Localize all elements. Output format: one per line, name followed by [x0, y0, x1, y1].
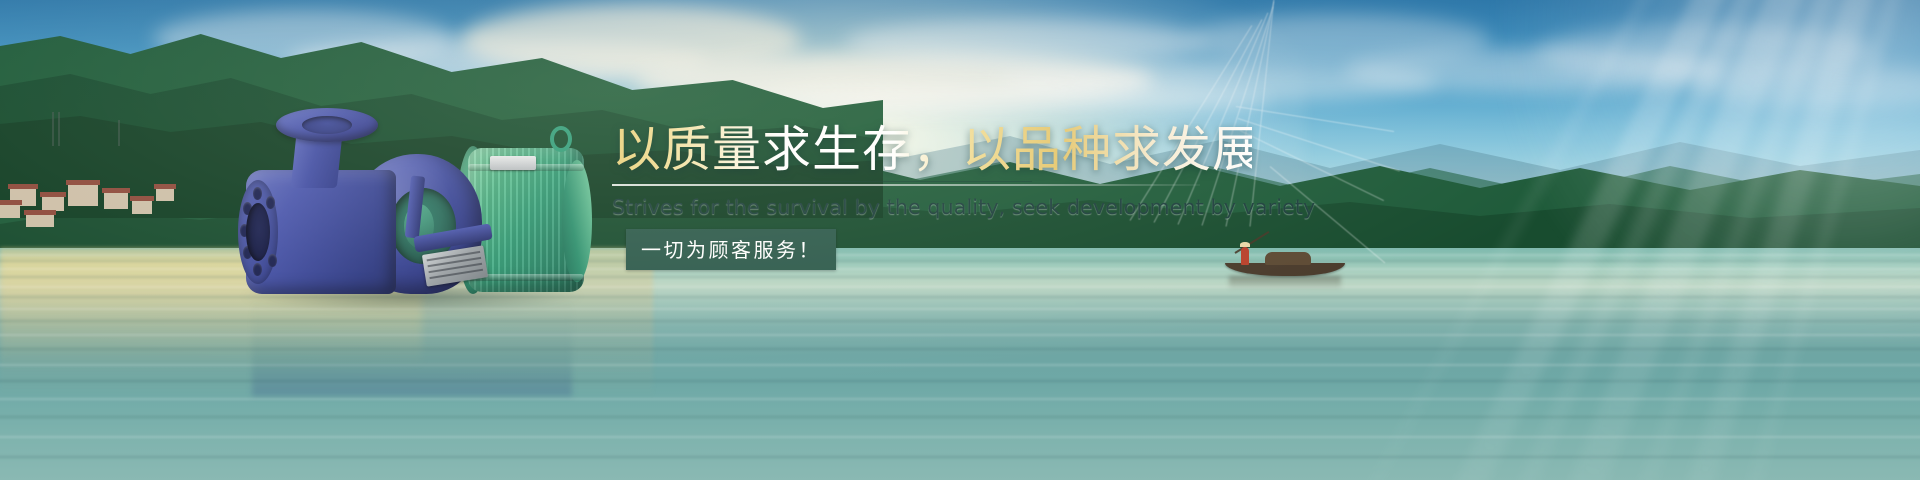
boat-canopy [1265, 252, 1311, 265]
motor-nameplate [490, 156, 536, 170]
headline-divider [612, 184, 1200, 186]
centrifugal-chemical-pump [232, 104, 602, 304]
transmission-tower [52, 112, 54, 146]
hero-slogan-badge: 一切为顾客服务！ [626, 229, 836, 270]
hero-text-block: 以质量求生存，以品种求发展 Strives for the survival b… [612, 124, 1252, 270]
lifting-eye-bolt [550, 126, 572, 152]
hero-banner: 以质量求生存，以品种求发展 Strives for the survival b… [0, 0, 1920, 480]
suction-bore [246, 203, 270, 261]
discharge-flange [276, 108, 378, 142]
hero-headline: 以质量求生存，以品种求发展 [612, 124, 1252, 177]
pump-reflection [252, 300, 572, 396]
hero-subtitle: Strives for the survival by the quality,… [612, 195, 1252, 219]
motor-front-cap [562, 160, 592, 282]
